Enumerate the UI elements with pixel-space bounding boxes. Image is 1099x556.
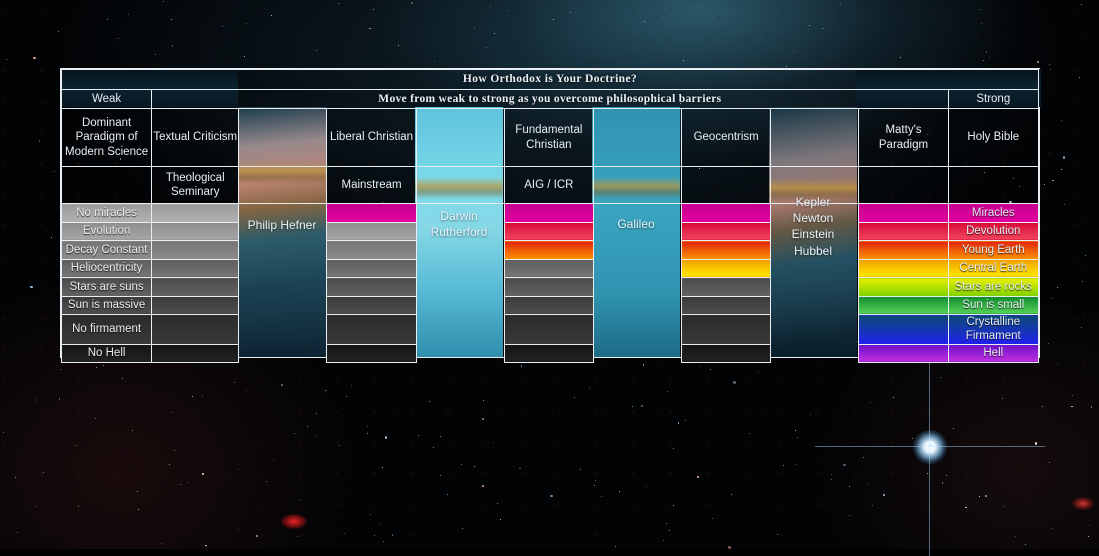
star [1085, 255, 1086, 256]
result-label-1: Devolution [948, 222, 1038, 241]
star [58, 31, 59, 32]
star [482, 485, 484, 487]
star [594, 485, 595, 486]
bright-star [913, 430, 947, 464]
gap-cell-hefner-5 [239, 296, 327, 315]
column-header-fundamental[interactable]: Fundamental Christian [504, 109, 593, 167]
person-label-kepler: KeplerNewtonEinsteinHubbel [769, 194, 857, 259]
column-subheader-fundamental[interactable]: AIG / ICR [504, 167, 593, 204]
star [794, 51, 795, 52]
cell-matty-4[interactable] [859, 278, 948, 297]
gap-cell-darwin-4 [416, 278, 504, 297]
column-header-liberal[interactable]: Liberal Christian [327, 109, 416, 167]
cell-geocentrism-6[interactable] [682, 315, 771, 345]
gap-cell-galileo-6 [593, 315, 681, 345]
gap-cell-kepler-3 [771, 259, 859, 278]
cell-liberal-0[interactable] [327, 204, 416, 223]
result-label-4: Stars are rocks [948, 278, 1038, 297]
star [43, 472, 44, 473]
star [646, 486, 647, 487]
star [369, 28, 371, 30]
row-label-4: Stars are suns [62, 278, 152, 297]
star [929, 444, 931, 446]
star [486, 47, 487, 48]
star [758, 371, 759, 372]
row-label-6: No firmament [62, 315, 152, 345]
table-row: HeliocentricityCentral Earth [62, 259, 1039, 278]
star [797, 437, 798, 438]
star [986, 51, 988, 53]
cell-textual-7[interactable] [152, 344, 239, 363]
red-nebula-spot-right [1072, 497, 1094, 510]
gap-cell-darwin-7 [416, 344, 504, 363]
table-row: Sun is massiveSun is small [62, 296, 1039, 315]
star [985, 495, 987, 497]
star [461, 464, 462, 465]
gap-cell-kepler-7 [771, 344, 859, 363]
star [868, 483, 869, 484]
table-row: No HellHell [62, 344, 1039, 363]
cell-liberal-6[interactable] [327, 315, 416, 345]
result-label-0: Miracles [948, 204, 1038, 223]
column-header-darwin [416, 109, 504, 167]
row-label-3: Heliocentricity [62, 259, 152, 278]
column-header-hefner [239, 109, 327, 167]
star [989, 57, 990, 58]
cell-matty-7[interactable] [859, 344, 948, 363]
star [550, 495, 552, 497]
star [965, 507, 967, 509]
star [822, 28, 823, 29]
star [1051, 528, 1052, 529]
cell-matty-1[interactable] [859, 222, 948, 241]
cell-liberal-7[interactable] [327, 344, 416, 363]
star [870, 402, 871, 403]
star [382, 467, 383, 468]
doctrine-chart: How Orthodox is Your Doctrine?WeakMove f… [60, 68, 1040, 358]
column-header-geocentrism[interactable]: Geocentrism [682, 109, 771, 167]
star [373, 9, 374, 10]
strong-label: Strong [948, 90, 1038, 109]
chart-title: How Orthodox is Your Doctrine? [62, 70, 1039, 90]
gap-cell-hefner-4 [239, 278, 327, 297]
result-label-2: Young Earth [948, 241, 1038, 260]
star [749, 433, 750, 434]
star [155, 54, 156, 55]
gap-cell-hefner-7 [239, 344, 327, 363]
star [796, 464, 797, 465]
star [374, 535, 375, 536]
row-label-2: Decay Constant [62, 241, 152, 260]
column-subheader-textual[interactable]: Theological Seminary [152, 167, 239, 204]
column-subheader-geocentrism [682, 167, 771, 204]
column-subheader-rows [62, 167, 152, 204]
person-label-darwin: DarwinRutherford [415, 208, 503, 240]
cell-liberal-4[interactable] [327, 278, 416, 297]
star [6, 59, 7, 60]
star [234, 382, 235, 383]
star [507, 10, 508, 11]
gap-cell-darwin-6 [416, 315, 504, 345]
gap-cell-kepler-4 [771, 278, 859, 297]
star [493, 442, 494, 443]
cell-textual-3[interactable] [152, 259, 239, 278]
cell-matty-6[interactable] [859, 315, 948, 345]
star [244, 56, 245, 57]
gap-cell-darwin-3 [416, 259, 504, 278]
star [712, 518, 713, 519]
cell-fundamental-0[interactable] [504, 204, 593, 223]
star [315, 435, 316, 436]
star [281, 384, 283, 386]
star [118, 38, 119, 39]
result-label-6: Crystalline Firmament [948, 315, 1038, 345]
cell-geocentrism-7[interactable] [682, 344, 771, 363]
gap-cell-galileo-3 [593, 259, 681, 278]
column-subheader-hefner [239, 167, 327, 204]
table-row: Stars are sunsStars are rocks [62, 278, 1039, 297]
gap-cell-galileo-4 [593, 278, 681, 297]
star [59, 398, 61, 400]
star [595, 480, 596, 481]
star [325, 390, 326, 391]
star [383, 541, 384, 542]
cell-geocentrism-5[interactable] [682, 296, 771, 315]
cell-fundamental-6[interactable] [504, 315, 593, 345]
column-subheader-darwin [416, 167, 504, 204]
cell-fundamental-2[interactable] [504, 241, 593, 260]
person-label-hefner: Philip Hefner [238, 217, 326, 233]
star [849, 515, 850, 516]
star [3, 432, 4, 433]
column-header-galileo [593, 109, 681, 167]
star [733, 381, 735, 383]
gap-cell-hefner-2 [239, 241, 327, 260]
gap-cell-galileo-7 [593, 344, 681, 363]
scale-row: WeakMove from weak to strong as you over… [62, 90, 1039, 109]
cell-fundamental-4[interactable] [504, 278, 593, 297]
column-subheader-galileo [593, 167, 681, 204]
star [685, 420, 686, 421]
star [370, 514, 371, 515]
cell-textual-6[interactable] [152, 315, 239, 345]
chart-title-row: How Orthodox is Your Doctrine? [62, 70, 1039, 90]
star [344, 533, 345, 534]
star [1042, 406, 1043, 407]
star [385, 436, 387, 438]
star [1037, 61, 1039, 63]
star [411, 2, 413, 4]
cell-fundamental-5[interactable] [504, 296, 593, 315]
column-header-textual[interactable]: Textual Criticism [152, 109, 239, 167]
cell-textual-0[interactable] [152, 204, 239, 223]
star [678, 422, 680, 424]
star [297, 536, 298, 537]
cell-matty-3[interactable] [859, 259, 948, 278]
star [497, 503, 498, 504]
gap-cell-darwin-2 [416, 241, 504, 260]
star [316, 50, 317, 51]
table-row: Decay ConstantYoung Earth [62, 241, 1039, 260]
cell-matty-5[interactable] [859, 296, 948, 315]
gap-cell-hefner-3 [239, 259, 327, 278]
weak-label: Weak [62, 90, 152, 109]
cell-liberal-2[interactable] [327, 241, 416, 260]
cell-liberal-3[interactable] [327, 259, 416, 278]
star [1057, 287, 1058, 288]
cell-fundamental-7[interactable] [504, 344, 593, 363]
star [810, 414, 811, 415]
cell-matty-0[interactable] [859, 204, 948, 223]
cell-geocentrism-0[interactable] [682, 204, 771, 223]
gap-cell-kepler-6 [771, 315, 859, 345]
row-label-7: No Hell [62, 344, 152, 363]
red-nebula-spot [281, 514, 307, 529]
star [1002, 398, 1003, 399]
star [697, 476, 699, 478]
cell-textual-1[interactable] [152, 222, 239, 241]
star [266, 481, 267, 482]
result-label-3: Central Earth [948, 259, 1038, 278]
gap-cell-galileo-2 [593, 241, 681, 260]
star [979, 496, 980, 497]
gap-cell-hefner-6 [239, 315, 327, 345]
star [256, 535, 258, 537]
cell-fundamental-1[interactable] [504, 222, 593, 241]
star [983, 60, 984, 61]
gap-cell-kepler-5 [771, 296, 859, 315]
cell-textual-2[interactable] [152, 241, 239, 260]
doctrine-grid: How Orthodox is Your Doctrine?WeakMove f… [61, 69, 1039, 363]
star [346, 396, 347, 397]
column-header-bible[interactable]: Holy Bible [948, 109, 1038, 167]
star [644, 21, 645, 22]
star [367, 426, 368, 427]
cell-fundamental-3[interactable] [504, 259, 593, 278]
star [981, 23, 982, 24]
gap-cell-galileo-5 [593, 296, 681, 315]
table-row: No miraclesMiracles [62, 204, 1039, 223]
chart-subtitle: Move from weak to strong as you overcome… [152, 90, 948, 109]
star [202, 473, 204, 475]
cell-textual-4[interactable] [152, 278, 239, 297]
column-header-row: Dominant Paradigm of Modern ScienceTextu… [62, 109, 1039, 167]
result-label-5: Sun is small [948, 296, 1038, 315]
column-subheader-matty [859, 167, 948, 204]
star [632, 406, 633, 407]
star [1089, 525, 1090, 526]
star [728, 546, 730, 548]
star [36, 401, 37, 402]
cell-geocentrism-2[interactable] [682, 241, 771, 260]
row-label-0: No miracles [62, 204, 152, 223]
star [643, 364, 645, 366]
column-subheader-liberal[interactable]: Mainstream [327, 167, 416, 204]
star [78, 506, 79, 507]
cell-geocentrism-3[interactable] [682, 259, 771, 278]
column-header-kepler [771, 109, 859, 167]
star [777, 534, 778, 535]
star [246, 390, 247, 391]
cell-liberal-5[interactable] [327, 296, 416, 315]
column-subheader-row: Theological SeminaryMainstreamAIG / ICR [62, 167, 1039, 204]
star [137, 491, 138, 492]
table-row: No firmamentCrystalline Firmament [62, 315, 1039, 345]
star [669, 530, 670, 531]
cell-textual-5[interactable] [152, 296, 239, 315]
star [1088, 536, 1089, 537]
star [273, 459, 274, 460]
column-header-rows[interactable]: Dominant Paradigm of Modern Science [62, 109, 152, 167]
table-row: EvolutionDevolution [62, 222, 1039, 241]
star [1052, 180, 1054, 182]
column-subheader-bible [948, 167, 1038, 204]
person-label-galileo: Galileo [592, 216, 680, 232]
cell-liberal-1[interactable] [327, 222, 416, 241]
result-label-7: Hell [948, 344, 1038, 363]
row-label-1: Evolution [62, 222, 152, 241]
gap-cell-darwin-5 [416, 296, 504, 315]
star [942, 482, 944, 484]
star [589, 388, 590, 389]
star [1051, 298, 1052, 299]
row-label-5: Sun is massive [62, 296, 152, 315]
cell-matty-2[interactable] [859, 241, 948, 260]
column-header-matty[interactable]: Matty's Paradigm [859, 109, 948, 167]
cell-geocentrism-1[interactable] [682, 222, 771, 241]
star [1071, 406, 1073, 408]
cell-geocentrism-4[interactable] [682, 278, 771, 297]
